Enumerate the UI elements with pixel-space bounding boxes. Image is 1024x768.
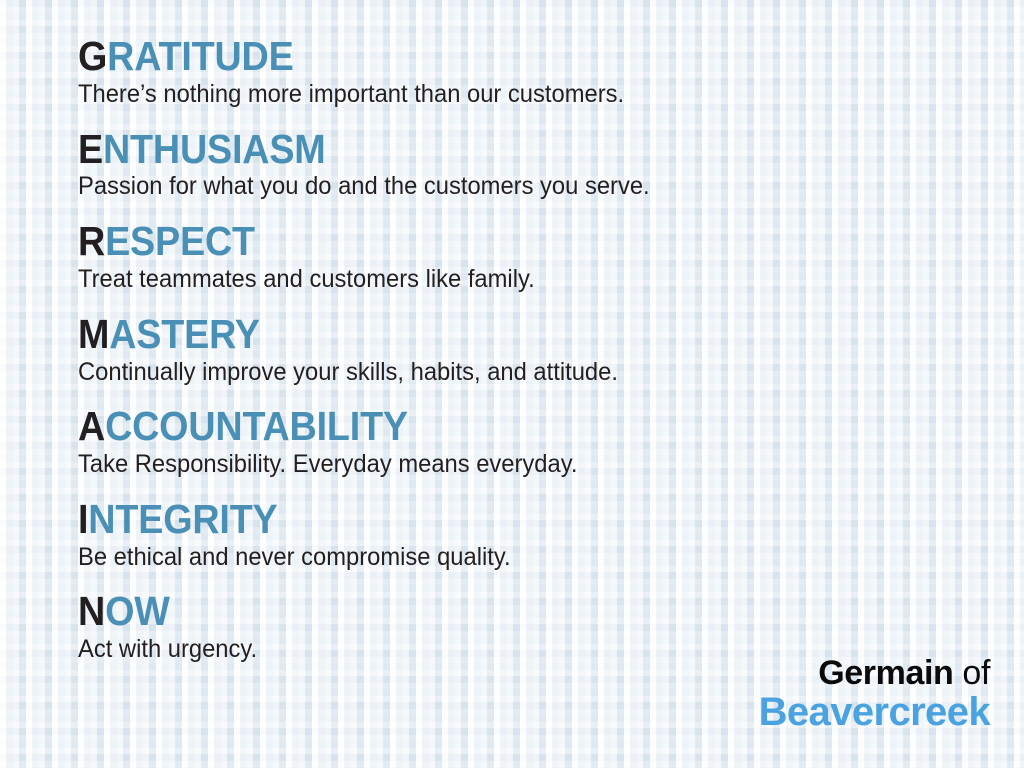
value-initial-letter: E xyxy=(78,126,103,172)
value-description-enthusiasm: Passion for what you do and the customer… xyxy=(78,172,948,201)
value-remaining-letters: ASTERY xyxy=(109,311,260,357)
value-block-accountability: ACCOUNTABILITY Take Responsibility. Ever… xyxy=(78,406,994,479)
value-initial-letter: M xyxy=(78,311,109,357)
value-description-respect: Treat teammates and customers like famil… xyxy=(78,265,948,294)
value-block-respect: RESPECT Treat teammates and customers li… xyxy=(78,221,994,294)
value-block-enthusiasm: ENTHUSIASM Passion for what you do and t… xyxy=(78,129,994,202)
value-remaining-letters: NTHUSIASM xyxy=(103,126,326,172)
value-block-mastery: MASTERY Continually improve your skills,… xyxy=(78,314,994,387)
brand-logo-name: Germain xyxy=(818,654,953,692)
value-initial-letter: N xyxy=(78,588,105,634)
value-heading-now: NOW xyxy=(78,591,921,633)
value-block-integrity: INTEGRITY Be ethical and never compromis… xyxy=(78,499,994,572)
value-initial-letter: A xyxy=(78,403,105,449)
value-initial-letter: G xyxy=(78,33,107,79)
value-description-accountability: Take Responsibility. Everyday means ever… xyxy=(78,450,948,479)
value-description-integrity: Be ethical and never compromise quality. xyxy=(78,543,948,572)
value-remaining-letters: NTEGRITY xyxy=(88,496,277,542)
value-initial-letter: I xyxy=(78,496,88,542)
value-block-gratitude: GRATITUDE There’s nothing more important… xyxy=(78,36,994,109)
brand-logo: Germain of Beavercreek xyxy=(759,656,990,732)
value-heading-integrity: INTEGRITY xyxy=(78,499,921,541)
value-heading-enthusiasm: ENTHUSIASM xyxy=(78,129,921,171)
value-remaining-letters: RATITUDE xyxy=(107,33,293,79)
value-remaining-letters: OW xyxy=(105,588,170,634)
core-values-list: GRATITUDE There’s nothing more important… xyxy=(78,36,994,664)
value-description-gratitude: There’s nothing more important than our … xyxy=(78,80,948,109)
values-poster: GRATITUDE There’s nothing more important… xyxy=(0,0,1024,768)
brand-logo-connector: of xyxy=(953,654,990,692)
value-remaining-letters: CCOUNTABILITY xyxy=(105,403,408,449)
value-description-mastery: Continually improve your skills, habits,… xyxy=(78,358,948,387)
value-heading-mastery: MASTERY xyxy=(78,314,921,356)
value-remaining-letters: ESPECT xyxy=(105,218,255,264)
brand-logo-line-top: Germain of xyxy=(759,656,990,690)
value-heading-accountability: ACCOUNTABILITY xyxy=(78,406,921,448)
value-heading-gratitude: GRATITUDE xyxy=(78,36,921,78)
value-heading-respect: RESPECT xyxy=(78,221,921,263)
brand-logo-location: Beavercreek xyxy=(759,692,990,732)
value-initial-letter: R xyxy=(78,218,105,264)
